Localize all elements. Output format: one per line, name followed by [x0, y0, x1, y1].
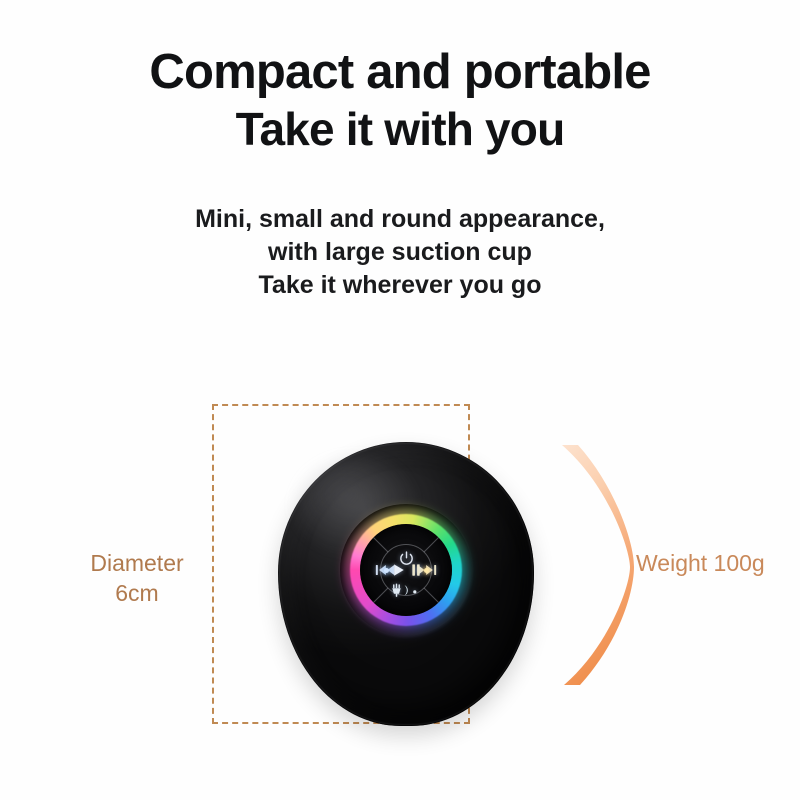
pause-icon — [411, 563, 421, 577]
subtitle-line-3: Take it wherever you go — [0, 269, 800, 302]
control-panel-face[interactable] — [360, 524, 452, 616]
headline-line-1: Compact and portable — [0, 44, 800, 101]
page-title: Compact and portable Take it with you — [0, 44, 800, 158]
subtitle-line-1: Mini, small and round appearance, — [0, 203, 800, 236]
subtitle-line-2: with large suction cup — [0, 236, 800, 269]
diameter-label: Diameter — [62, 548, 212, 578]
diameter-callout: Diameter 6cm — [62, 548, 212, 608]
light-mode-icon — [390, 583, 422, 598]
led-indicator-left — [384, 568, 389, 573]
weight-callout: Weight 100g — [636, 550, 765, 577]
weight-arc-indicator — [556, 441, 634, 689]
product-feature-page: Compact and portable Take it with you Mi… — [0, 0, 800, 800]
play-icon — [392, 563, 405, 577]
control-panel-bezel — [340, 504, 472, 636]
diameter-value: 6cm — [62, 578, 212, 608]
page-subtitle: Mini, small and round appearance, with l… — [0, 203, 800, 302]
speaker-product-image — [278, 442, 534, 726]
play-pause-button[interactable] — [382, 563, 430, 577]
light-mode-button[interactable] — [388, 582, 424, 598]
led-indicator-right — [424, 568, 429, 573]
headline-line-2: Take it with you — [0, 101, 800, 158]
